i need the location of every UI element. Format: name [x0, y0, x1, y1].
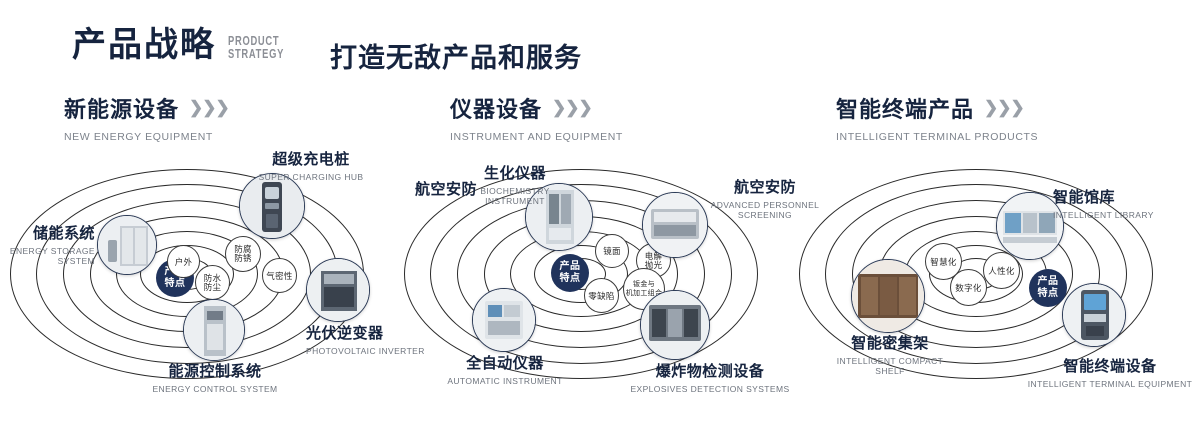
feature-dot: 零缺陷 — [584, 278, 619, 313]
node-label-en: AUTOMATIC INSTRUMENT — [420, 376, 590, 386]
node-label-en: EXPLOSIVES DETECTION SYSTEMS — [600, 384, 820, 394]
node-super-charging-hub[interactable] — [239, 173, 305, 239]
section-title-en: INTELLIGENT TERMINAL PRODUCTS — [836, 131, 1038, 143]
node-label-cn: 航空安防 — [415, 178, 525, 199]
node-label-cn: 超级充电桩 — [236, 148, 386, 169]
label-energy-control-system: 能源控制系统 ENERGY CONTROL SYSTEM — [90, 360, 340, 394]
node-label-cn: 全自动仪器 — [420, 352, 590, 373]
feature-dot: 数字化 — [950, 269, 987, 306]
node-energy-storage-system[interactable] — [97, 215, 157, 275]
section-title-cn: 仪器设备 — [450, 92, 542, 124]
feature-dot: 镜面 — [595, 234, 629, 268]
section-title-cn: 智能终端产品 — [836, 92, 974, 124]
page-subtitle: 打造无敌产品和服务 — [330, 36, 582, 75]
node-label-en: ENERGY STORAGE SYSTEM — [0, 246, 95, 266]
chevron-right-icon: ❯❯❯ — [984, 98, 1024, 118]
section-title-cn: 新能源设备 — [64, 92, 179, 124]
label-intelligent-terminal-equipment: 智能终端设备 INTELLIGENT TERMINAL EQUIPMENT — [1020, 355, 1200, 389]
section-title-en: INSTRUMENT AND EQUIPMENT — [450, 131, 623, 143]
energy-control-photo — [184, 300, 244, 360]
node-explosives-detection-systems[interactable] — [640, 290, 710, 360]
badge-line-1: 产品 — [560, 261, 581, 273]
feature-dot: 气密性 — [262, 258, 297, 293]
badge-product-features-intelligent: 产品 特点 — [1029, 269, 1067, 307]
page-title: 产品战略 — [72, 28, 216, 62]
feature-dot: 防腐 防锈 — [225, 236, 261, 272]
terminal-equipment-photo — [1063, 284, 1125, 346]
label-explosives-detection-systems: 爆炸物检测设备 EXPLOSIVES DETECTION SYSTEMS — [600, 360, 820, 394]
badge-line-2: 特点 — [165, 278, 186, 290]
node-label-cn: 智能馆库 — [1053, 186, 1198, 207]
energy-storage-photo — [98, 216, 156, 274]
label-super-charging-hub: 超级充电桩 SUPER CHARGING HUB — [236, 148, 386, 182]
chevron-right-icon: ❯❯❯ — [189, 98, 229, 118]
node-intelligent-terminal-equipment[interactable] — [1062, 283, 1126, 347]
node-label-cn: 能源控制系统 — [90, 360, 340, 381]
node-label-en: INTELLIGENT TERMINAL EQUIPMENT — [1020, 379, 1200, 389]
node-label-cn: 智能密集架 — [800, 332, 980, 353]
label-intelligent-library: 智能馆库 INTELLIGENT LIBRARY — [1053, 186, 1198, 220]
compact-shelf-photo — [852, 260, 924, 332]
node-label-cn: 爆炸物检测设备 — [600, 360, 820, 381]
node-label-cn: 智能终端设备 — [1020, 355, 1200, 376]
node-advanced-personnel-screening[interactable] — [642, 192, 708, 258]
label-automatic-instrument: 全自动仪器 AUTOMATIC INSTRUMENT — [420, 352, 590, 386]
node-intelligent-compact-shelf[interactable] — [851, 259, 925, 333]
node-photovoltaic-inverter[interactable] — [306, 258, 370, 322]
node-label-en: ENERGY CONTROL SYSTEM — [90, 384, 340, 394]
page-title-en: PRODUCT STRATEGY — [228, 34, 284, 60]
node-automatic-instrument[interactable] — [472, 288, 536, 352]
badge-line-2: 特点 — [560, 273, 581, 285]
label-aviation-security: 航空安防 — [415, 178, 525, 199]
node-label-en: INTELLIGENT LIBRARY — [1053, 210, 1198, 220]
charging-hub-photo — [240, 174, 304, 238]
section-title-new-energy: 新能源设备 ❯❯❯ NEW ENERGY EQUIPMENT — [64, 92, 229, 143]
feature-dot: 人性化 — [983, 252, 1020, 289]
feature-dot: 户外 — [167, 245, 200, 278]
section-title-intelligent-terminal: 智能终端产品 ❯❯❯ INTELLIGENT TERMINAL PRODUCTS — [836, 92, 1038, 143]
product-strategy-diagram: 产品战略 PRODUCT STRATEGY 打造无敌产品和服务 新能源设备 ❯❯… — [0, 0, 1200, 422]
page-header: 产品战略 PRODUCT STRATEGY — [72, 28, 306, 62]
pv-inverter-photo — [307, 259, 369, 321]
node-label-en: SUPER CHARGING HUB — [236, 172, 386, 182]
feature-dot: 防水 防尘 — [195, 265, 230, 300]
node-label-en: INTELLIGENT COMPACT SHELF — [830, 356, 950, 376]
label-energy-storage-system: 储能系统 ENERGY STORAGE SYSTEM — [0, 222, 95, 266]
badge-product-features-instrument: 产品 特点 — [551, 254, 589, 292]
section-title-instrument: 仪器设备 ❯❯❯ INSTRUMENT AND EQUIPMENT — [450, 92, 623, 143]
section-title-en: NEW ENERGY EQUIPMENT — [64, 131, 229, 143]
label-advanced-personnel-screening: 航空安防 ADVANCED PERSONNEL SCREENING — [700, 176, 830, 220]
screening-photo — [643, 193, 707, 257]
node-label-cn: 航空安防 — [700, 176, 830, 197]
node-energy-control-system[interactable] — [183, 299, 245, 361]
node-label-cn: 储能系统 — [0, 222, 95, 243]
badge-line-2: 特点 — [1038, 288, 1059, 300]
explosives-detection-photo — [641, 291, 709, 359]
label-intelligent-compact-shelf: 智能密集架 INTELLIGENT COMPACT SHELF — [800, 332, 980, 376]
badge-line-1: 产品 — [1038, 276, 1059, 288]
node-label-en: ADVANCED PERSONNEL SCREENING — [710, 200, 820, 220]
automatic-instrument-photo — [473, 289, 535, 351]
chevron-right-icon: ❯❯❯ — [552, 98, 592, 118]
page-title-en-line2: STRATEGY — [228, 47, 284, 60]
